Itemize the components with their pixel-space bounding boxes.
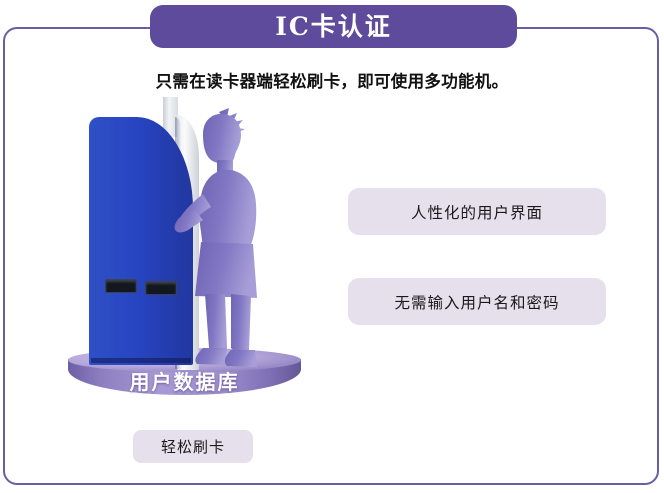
bottom-tag-easy-swipe: 轻松刷卡 bbox=[133, 430, 253, 463]
feature-label: 人性化的用户界面 bbox=[411, 201, 543, 223]
bottom-tag-label: 轻松刷卡 bbox=[161, 436, 225, 457]
feature-box-no-credentials: 无需输入用户名和密码 bbox=[348, 278, 606, 325]
user-silhouette bbox=[173, 108, 269, 370]
feature-box-friendly-ui: 人性化的用户界面 bbox=[348, 188, 606, 235]
title-banner: IC卡认证 bbox=[150, 5, 517, 48]
card-reader-slot-icon bbox=[105, 279, 137, 293]
subtitle-text: 只需在读卡器端轻松刷卡，即可使用多功能机。 bbox=[0, 68, 664, 92]
feature-label: 无需输入用户名和密码 bbox=[394, 291, 559, 313]
illustration-stage: 用户数据库 bbox=[55, 95, 325, 410]
page-title: IC卡认证 bbox=[275, 14, 392, 39]
database-label: 用户数据库 bbox=[68, 366, 301, 395]
